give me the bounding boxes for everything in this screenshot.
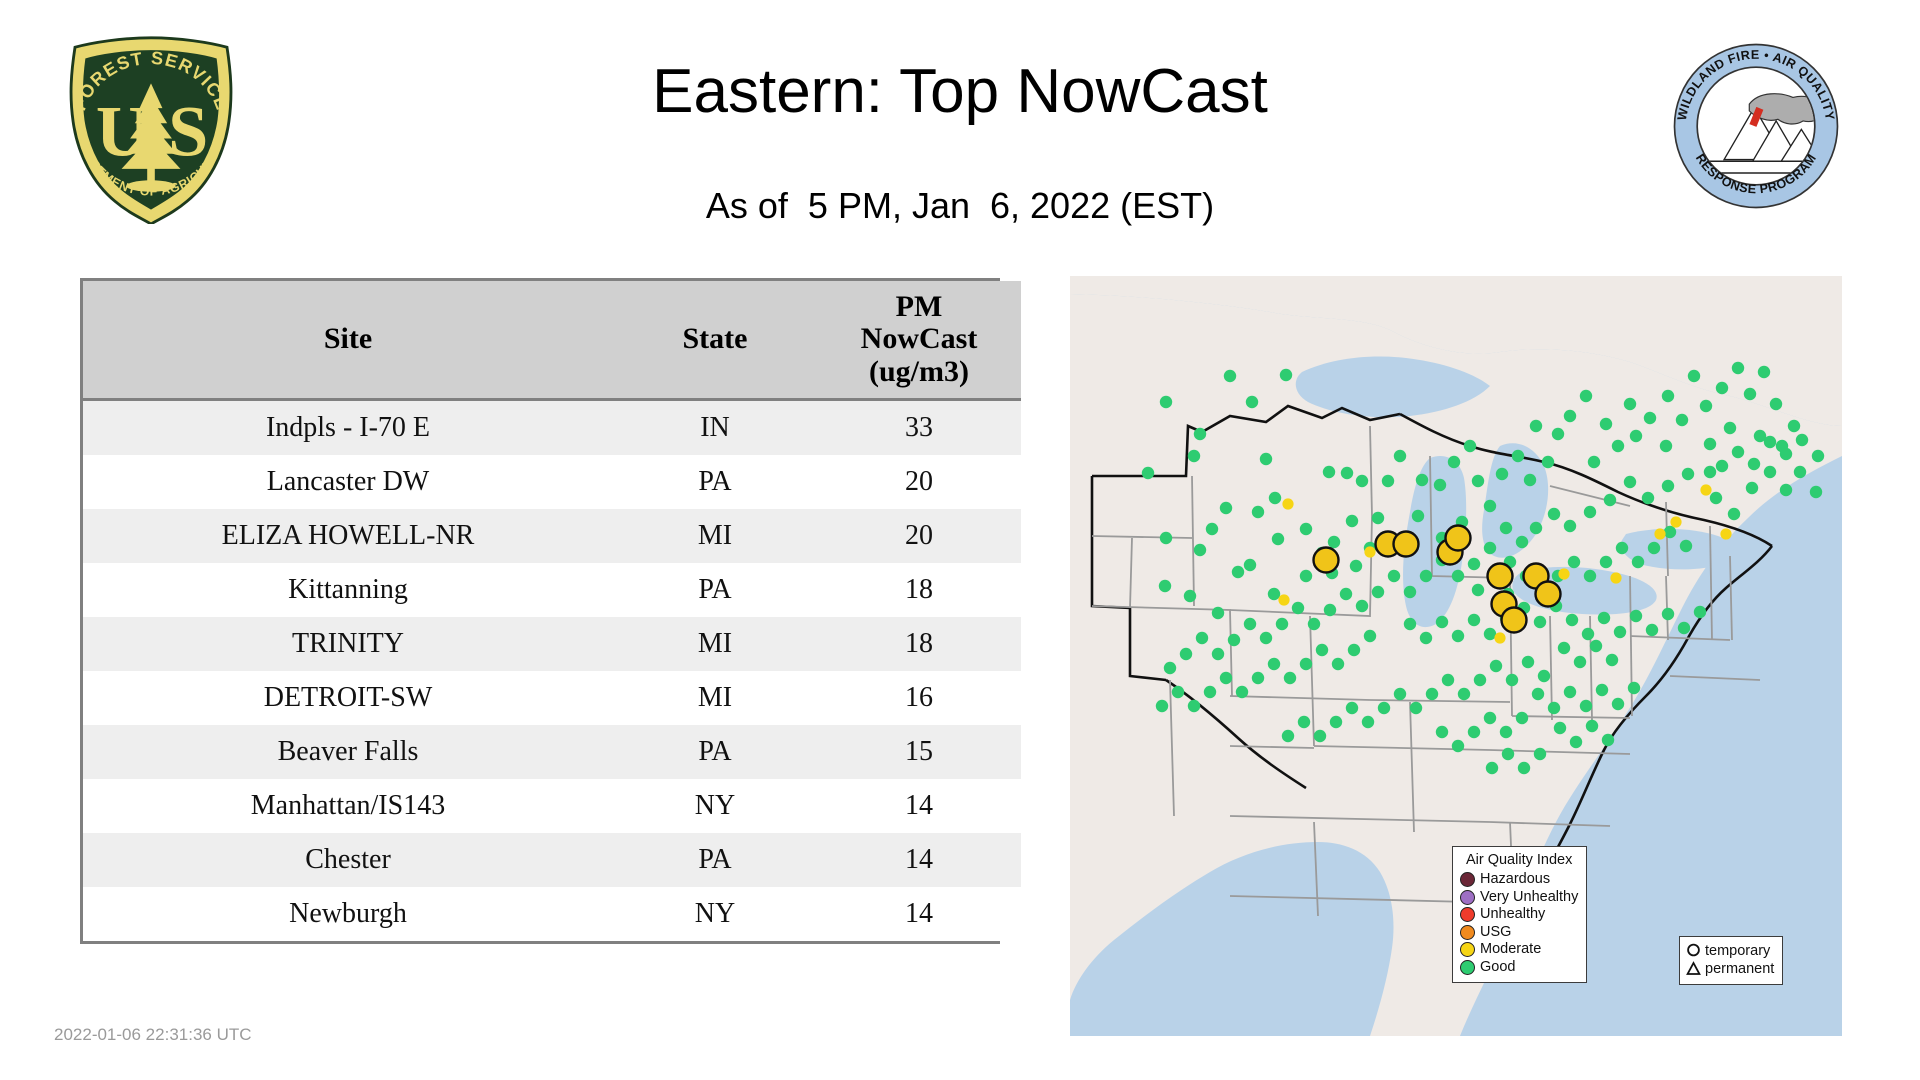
monitor-dot-good — [1590, 640, 1602, 652]
monitor-dot-top-site — [1446, 526, 1471, 551]
aqi-legend-label: Very Unhealthy — [1480, 889, 1578, 907]
monitor-dot-good — [1524, 474, 1536, 486]
table-cell-site: Indpls - I-70 E — [83, 400, 613, 456]
monitor-dot-good — [1568, 556, 1580, 568]
monitor-dot-good — [1748, 458, 1760, 470]
monitor-dot-good — [1426, 688, 1438, 700]
monitor-dot-good — [1614, 626, 1626, 638]
monitor-dot-good — [1516, 712, 1528, 724]
monitor-dot-good — [1632, 556, 1644, 568]
monitor-dot-good — [1484, 628, 1496, 640]
monitor-dot-good — [1260, 632, 1272, 644]
table-cell-pm: 14 — [817, 833, 1021, 887]
table-cell-site: Beaver Falls — [83, 725, 613, 779]
monitor-dot-good — [1512, 450, 1524, 462]
table-header-row: Site State PM NowCast (ug/m3) — [83, 281, 1021, 400]
monitor-dot-good — [1630, 430, 1642, 442]
monitor-dot-good — [1490, 660, 1502, 672]
monitor-dot-good — [1574, 656, 1586, 668]
table-cell-state: PA — [613, 725, 817, 779]
monitor-dot-moderate — [1558, 568, 1569, 579]
table-cell-pm: 33 — [817, 400, 1021, 456]
monitor-dot-good — [1260, 453, 1272, 465]
table-row: Indpls - I-70 EIN33 — [83, 400, 1021, 456]
triangle-icon — [1686, 961, 1701, 977]
monitor-dot-good — [1212, 648, 1224, 660]
column-header-pm-line3: (ug/m3) — [821, 356, 1017, 388]
monitor-dot-good — [1184, 590, 1196, 602]
table-cell-state: NY — [613, 779, 817, 833]
monitor-dot-good — [1602, 734, 1614, 746]
monitor-dot-good — [1564, 686, 1576, 698]
aqi-legend-swatch-icon — [1460, 872, 1475, 887]
symbol-legend-label-permanent: permanent — [1705, 960, 1774, 978]
monitor-dot-good — [1346, 515, 1358, 527]
monitor-dot-good — [1314, 730, 1326, 742]
monitor-dot-good — [1348, 644, 1360, 656]
monitor-dot-good — [1764, 466, 1776, 478]
monitor-dot-good — [1276, 618, 1288, 630]
monitor-dot-good — [1204, 686, 1216, 698]
monitor-dot-good — [1534, 616, 1546, 628]
aqi-legend-label: Hazardous — [1480, 871, 1550, 889]
monitor-dot-good — [1612, 440, 1624, 452]
monitor-dot-good — [1341, 467, 1353, 479]
monitor-dot-good — [1516, 536, 1528, 548]
page-subtitle: As of 5 PM, Jan 6, 2022 (EST) — [0, 185, 1920, 227]
table-cell-state: MI — [613, 617, 817, 671]
monitor-dot-top-site — [1314, 548, 1339, 573]
monitor-dot-good — [1188, 700, 1200, 712]
monitor-dot-good — [1682, 468, 1694, 480]
monitor-dot-good — [1564, 410, 1576, 422]
table-cell-pm: 20 — [817, 509, 1021, 563]
monitor-dot-good — [1394, 688, 1406, 700]
monitor-dot-good — [1452, 630, 1464, 642]
monitor-dot-good — [1356, 475, 1368, 487]
monitor-dot-good — [1662, 608, 1674, 620]
monitor-dot-good — [1252, 672, 1264, 684]
monitor-dot-good — [1464, 440, 1476, 452]
table-cell-state: PA — [613, 455, 817, 509]
monitor-dot-good — [1662, 390, 1674, 402]
monitor-dot-good — [1534, 748, 1546, 760]
monitor-dot-good — [1582, 628, 1594, 640]
monitor-dot-moderate — [1654, 528, 1665, 539]
monitor-dot-good — [1194, 544, 1206, 556]
monitor-dot-good — [1502, 748, 1514, 760]
monitor-dot-good — [1486, 762, 1498, 774]
aqi-legend-title: Air Quality Index — [1460, 852, 1578, 868]
monitor-dot-good — [1616, 542, 1628, 554]
monitor-dot-good — [1228, 634, 1240, 646]
table-cell-state: PA — [613, 833, 817, 887]
monitor-dot-good — [1224, 370, 1236, 382]
monitor-dot-good — [1796, 434, 1808, 446]
monitor-dot-good — [1194, 428, 1206, 440]
monitor-dot-good — [1584, 506, 1596, 518]
monitor-dot-good — [1688, 370, 1700, 382]
table-cell-pm: 14 — [817, 779, 1021, 833]
monitor-dot-good — [1269, 492, 1281, 504]
monitor-dot-good — [1664, 526, 1676, 538]
monitor-dot-good — [1442, 674, 1454, 686]
monitor-dot-good — [1300, 523, 1312, 535]
aqi-legend-row: Hazardous — [1460, 871, 1578, 889]
table-row: ELIZA HOWELL-NRMI20 — [83, 509, 1021, 563]
monitor-dot-good — [1332, 658, 1344, 670]
monitor-dot-good — [1394, 450, 1406, 462]
monitor-dot-good — [1496, 468, 1508, 480]
monitor-dot-good — [1746, 482, 1758, 494]
monitor-dot-good — [1598, 612, 1610, 624]
monitor-dot-good — [1644, 412, 1656, 424]
table-cell-pm: 15 — [817, 725, 1021, 779]
monitor-dot-good — [1300, 570, 1312, 582]
aqi-legend-label: USG — [1480, 924, 1511, 942]
monitor-dot-good — [1530, 420, 1542, 432]
table-row: Beaver FallsPA15 — [83, 725, 1021, 779]
symbol-legend: temporary permanent — [1679, 936, 1783, 985]
monitor-dot-good — [1372, 512, 1384, 524]
monitor-dot-good — [1420, 570, 1432, 582]
monitor-dot-good — [1484, 500, 1496, 512]
monitor-dot-good — [1554, 722, 1566, 734]
monitor-dot-good — [1612, 698, 1624, 710]
monitor-dot-top-site — [1536, 582, 1561, 607]
monitor-dot-top-site — [1394, 532, 1419, 557]
monitor-dot-good — [1468, 726, 1480, 738]
monitor-dot-good — [1434, 479, 1446, 491]
monitor-dot-good — [1159, 580, 1171, 592]
monitor-dot-good — [1732, 362, 1744, 374]
monitor-dot-good — [1586, 720, 1598, 732]
table-cell-site: ELIZA HOWELL-NR — [83, 509, 613, 563]
monitor-dot-top-site — [1502, 608, 1527, 633]
table-cell-site: Newburgh — [83, 887, 613, 941]
aqi-legend-swatch-icon — [1460, 890, 1475, 905]
monitor-dot-moderate — [1278, 594, 1289, 605]
monitor-dot-good — [1700, 400, 1712, 412]
aqi-legend-row: Good — [1460, 959, 1578, 977]
monitor-dot-good — [1530, 522, 1542, 534]
aqi-legend-swatch-icon — [1460, 942, 1475, 957]
table-cell-state: MI — [613, 509, 817, 563]
table-row: Lancaster DWPA20 — [83, 455, 1021, 509]
monitor-dot-good — [1580, 700, 1592, 712]
monitor-dot-good — [1506, 674, 1518, 686]
monitor-dot-good — [1604, 494, 1616, 506]
monitor-dot-good — [1452, 570, 1464, 582]
aqi-legend-row: Moderate — [1460, 941, 1578, 959]
monitor-dot-good — [1522, 656, 1534, 668]
monitor-dot-good — [1284, 672, 1296, 684]
monitor-dot-good — [1780, 448, 1792, 460]
monitor-dot-good — [1156, 700, 1168, 712]
monitor-dot-moderate — [1700, 484, 1711, 495]
monitor-dot-good — [1272, 533, 1284, 545]
monitor-dot-good — [1624, 398, 1636, 410]
monitor-dot-good — [1196, 632, 1208, 644]
monitor-dot-good — [1350, 560, 1362, 572]
monitor-dot-good — [1518, 762, 1530, 774]
table-body: Indpls - I-70 EIN33Lancaster DWPA20ELIZA… — [83, 400, 1021, 942]
monitor-dot-good — [1580, 390, 1592, 402]
monitor-dot-good — [1172, 686, 1184, 698]
monitor-dot-good — [1564, 520, 1576, 532]
monitor-dot-good — [1346, 702, 1358, 714]
monitor-dot-good — [1704, 438, 1716, 450]
monitor-dot-good — [1472, 475, 1484, 487]
monitor-dot-good — [1164, 662, 1176, 674]
monitor-dot-good — [1728, 508, 1740, 520]
monitor-dot-good — [1328, 536, 1340, 548]
monitor-dot-good — [1710, 492, 1722, 504]
table-cell-pm: 16 — [817, 671, 1021, 725]
monitor-dot-good — [1484, 542, 1496, 554]
monitor-dot-good — [1362, 716, 1374, 728]
monitor-dot-good — [1724, 422, 1736, 434]
table-row: Manhattan/IS143NY14 — [83, 779, 1021, 833]
monitor-dot-good — [1298, 716, 1310, 728]
monitor-dot-good — [1246, 396, 1258, 408]
monitor-dot-good — [1566, 614, 1578, 626]
symbol-legend-label-temporary: temporary — [1705, 942, 1770, 960]
aqi-legend-swatch-icon — [1460, 925, 1475, 940]
page-title: Eastern: Top NowCast — [0, 56, 1920, 127]
table-cell-site: TRINITY — [83, 617, 613, 671]
monitor-dot-good — [1382, 475, 1394, 487]
monitor-dot-good — [1420, 632, 1432, 644]
monitor-dot-good — [1468, 558, 1480, 570]
table-cell-state: IN — [613, 400, 817, 456]
table-cell-state: NY — [613, 887, 817, 941]
monitor-dot-good — [1542, 456, 1554, 468]
column-header-pm-line1: PM — [821, 291, 1017, 323]
monitor-dot-good — [1630, 610, 1642, 622]
table-cell-pm: 20 — [817, 455, 1021, 509]
monitor-dot-good — [1642, 492, 1654, 504]
monitor-dot-good — [1472, 584, 1484, 596]
aqi-legend-label: Good — [1480, 959, 1515, 977]
monitor-dot-good — [1282, 730, 1294, 742]
monitor-dot-good — [1220, 502, 1232, 514]
aqi-legend: Air Quality Index HazardousVery Unhealth… — [1452, 846, 1587, 983]
monitor-dot-good — [1500, 522, 1512, 534]
monitor-dot-moderate — [1720, 528, 1731, 539]
monitor-dot-good — [1268, 658, 1280, 670]
column-header-site: Site — [83, 281, 613, 400]
air-quality-map[interactable]: Air Quality Index HazardousVery Unhealth… — [1070, 276, 1842, 1036]
table-cell-site: DETROIT-SW — [83, 671, 613, 725]
monitor-dot-good — [1330, 716, 1342, 728]
monitor-dot-good — [1212, 607, 1224, 619]
monitor-dot-good — [1694, 606, 1706, 618]
monitor-dot-good — [1142, 467, 1154, 479]
table-cell-site: Lancaster DW — [83, 455, 613, 509]
monitor-dot-good — [1678, 622, 1690, 634]
monitor-dot-good — [1770, 398, 1782, 410]
monitor-dot-good — [1468, 614, 1480, 626]
monitor-dot-good — [1588, 456, 1600, 468]
monitor-dot-good — [1780, 484, 1792, 496]
monitor-dot-good — [1452, 740, 1464, 752]
monitor-dot-top-site — [1488, 564, 1513, 589]
monitor-dot-good — [1160, 396, 1172, 408]
aqi-legend-row: Unhealthy — [1460, 906, 1578, 924]
table-row: TRINITYMI18 — [83, 617, 1021, 671]
table-row: NewburghNY14 — [83, 887, 1021, 941]
circle-icon — [1686, 943, 1701, 959]
generation-timestamp: 2022-01-06 22:31:36 UTC — [54, 1025, 252, 1045]
monitor-dot-good — [1244, 618, 1256, 630]
monitor-dot-good — [1160, 532, 1172, 544]
monitor-dot-good — [1458, 688, 1470, 700]
monitor-dot-good — [1648, 542, 1660, 554]
table-row: DETROIT-SWMI16 — [83, 671, 1021, 725]
monitor-dot-good — [1570, 736, 1582, 748]
monitor-dot-good — [1764, 436, 1776, 448]
monitor-dot-good — [1596, 684, 1608, 696]
monitor-dot-moderate — [1282, 498, 1293, 509]
monitor-dot-good — [1410, 702, 1422, 714]
monitor-dot-good — [1552, 428, 1564, 440]
monitor-dot-good — [1252, 506, 1264, 518]
monitor-dot-good — [1268, 588, 1280, 600]
monitor-dot-good — [1812, 450, 1824, 462]
monitor-dot-good — [1676, 414, 1688, 426]
monitor-dot-good — [1316, 644, 1328, 656]
monitor-dot-good — [1538, 670, 1550, 682]
monitor-dot-good — [1758, 366, 1770, 378]
monitor-dot-good — [1606, 654, 1618, 666]
monitor-dot-good — [1340, 588, 1352, 600]
monitor-dot-moderate — [1610, 572, 1621, 583]
monitor-dot-good — [1292, 602, 1304, 614]
monitor-dot-good — [1180, 648, 1192, 660]
table-cell-pm: 18 — [817, 617, 1021, 671]
aqi-legend-swatch-icon — [1460, 960, 1475, 975]
monitor-dot-good — [1662, 480, 1674, 492]
monitor-dot-good — [1584, 570, 1596, 582]
monitor-dot-good — [1680, 540, 1692, 552]
monitor-dot-good — [1448, 456, 1460, 468]
monitor-dot-good — [1236, 686, 1248, 698]
symbol-legend-row-permanent: permanent — [1686, 960, 1774, 978]
monitor-dot-good — [1788, 420, 1800, 432]
table-cell-site: Kittanning — [83, 563, 613, 617]
table-row: ChesterPA14 — [83, 833, 1021, 887]
table-cell-pm: 14 — [817, 887, 1021, 941]
monitor-dot-good — [1372, 586, 1384, 598]
monitor-dot-good — [1558, 642, 1570, 654]
monitor-dot-good — [1484, 712, 1496, 724]
monitor-dot-good — [1810, 486, 1822, 498]
monitor-dot-good — [1704, 466, 1716, 478]
monitor-dot-good — [1548, 508, 1560, 520]
monitor-dot-good — [1716, 382, 1728, 394]
monitor-dot-good — [1188, 450, 1200, 462]
monitor-dot-good — [1794, 466, 1806, 478]
monitor-dot-good — [1416, 474, 1428, 486]
monitor-dot-good — [1600, 556, 1612, 568]
monitor-dot-good — [1232, 566, 1244, 578]
monitor-dot-good — [1323, 466, 1335, 478]
monitor-dot-moderate — [1670, 516, 1681, 527]
monitor-dot-good — [1364, 630, 1376, 642]
monitor-dot-good — [1532, 688, 1544, 700]
table-cell-site: Manhattan/IS143 — [83, 779, 613, 833]
monitor-dot-good — [1324, 604, 1336, 616]
monitor-dot-good — [1646, 624, 1658, 636]
monitor-dot-good — [1404, 618, 1416, 630]
column-header-state: State — [613, 281, 817, 400]
monitor-dot-good — [1436, 726, 1448, 738]
aqi-legend-label: Unhealthy — [1480, 906, 1545, 924]
monitor-dot-good — [1378, 702, 1390, 714]
slide-root: FOREST SERVICE U S DEPARTMENT OF AGRICUL… — [0, 0, 1920, 1080]
monitor-dot-good — [1474, 674, 1486, 686]
table-cell-pm: 18 — [817, 563, 1021, 617]
monitor-dot-good — [1206, 523, 1218, 535]
monitor-dot-good — [1436, 616, 1448, 628]
aqi-legend-label: Moderate — [1480, 941, 1541, 959]
monitor-dot-moderate — [1364, 546, 1375, 557]
table-cell-state: MI — [613, 671, 817, 725]
monitor-dot-good — [1244, 559, 1256, 571]
monitor-dot-good — [1500, 726, 1512, 738]
monitor-dot-good — [1660, 440, 1672, 452]
monitor-dot-good — [1600, 418, 1612, 430]
aqi-legend-swatch-icon — [1460, 907, 1475, 922]
table-cell-site: Chester — [83, 833, 613, 887]
top-nowcast-table: Site State PM NowCast (ug/m3) Indpls - I… — [80, 278, 1000, 944]
aqi-legend-row: Very Unhealthy — [1460, 889, 1578, 907]
monitor-dot-good — [1220, 672, 1232, 684]
monitor-dot-good — [1548, 702, 1560, 714]
table-row: KittanningPA18 — [83, 563, 1021, 617]
monitor-dot-good — [1412, 510, 1424, 522]
symbol-legend-row-temporary: temporary — [1686, 942, 1774, 960]
monitor-dot-good — [1628, 682, 1640, 694]
column-header-pm-line2: NowCast — [821, 323, 1017, 355]
monitor-dot-good — [1624, 476, 1636, 488]
monitor-dot-good — [1716, 460, 1728, 472]
column-header-pm-nowcast: PM NowCast (ug/m3) — [817, 281, 1021, 400]
table-cell-state: PA — [613, 563, 817, 617]
monitor-dot-good — [1732, 446, 1744, 458]
monitor-dot-good — [1404, 586, 1416, 598]
monitor-dot-good — [1300, 658, 1312, 670]
aqi-legend-row: USG — [1460, 924, 1578, 942]
monitor-dot-good — [1356, 600, 1368, 612]
monitor-dot-moderate — [1494, 632, 1505, 643]
monitor-dot-good — [1308, 618, 1320, 630]
monitor-dot-good — [1388, 570, 1400, 582]
monitor-dot-good — [1744, 388, 1756, 400]
monitor-dot-good — [1280, 369, 1292, 381]
